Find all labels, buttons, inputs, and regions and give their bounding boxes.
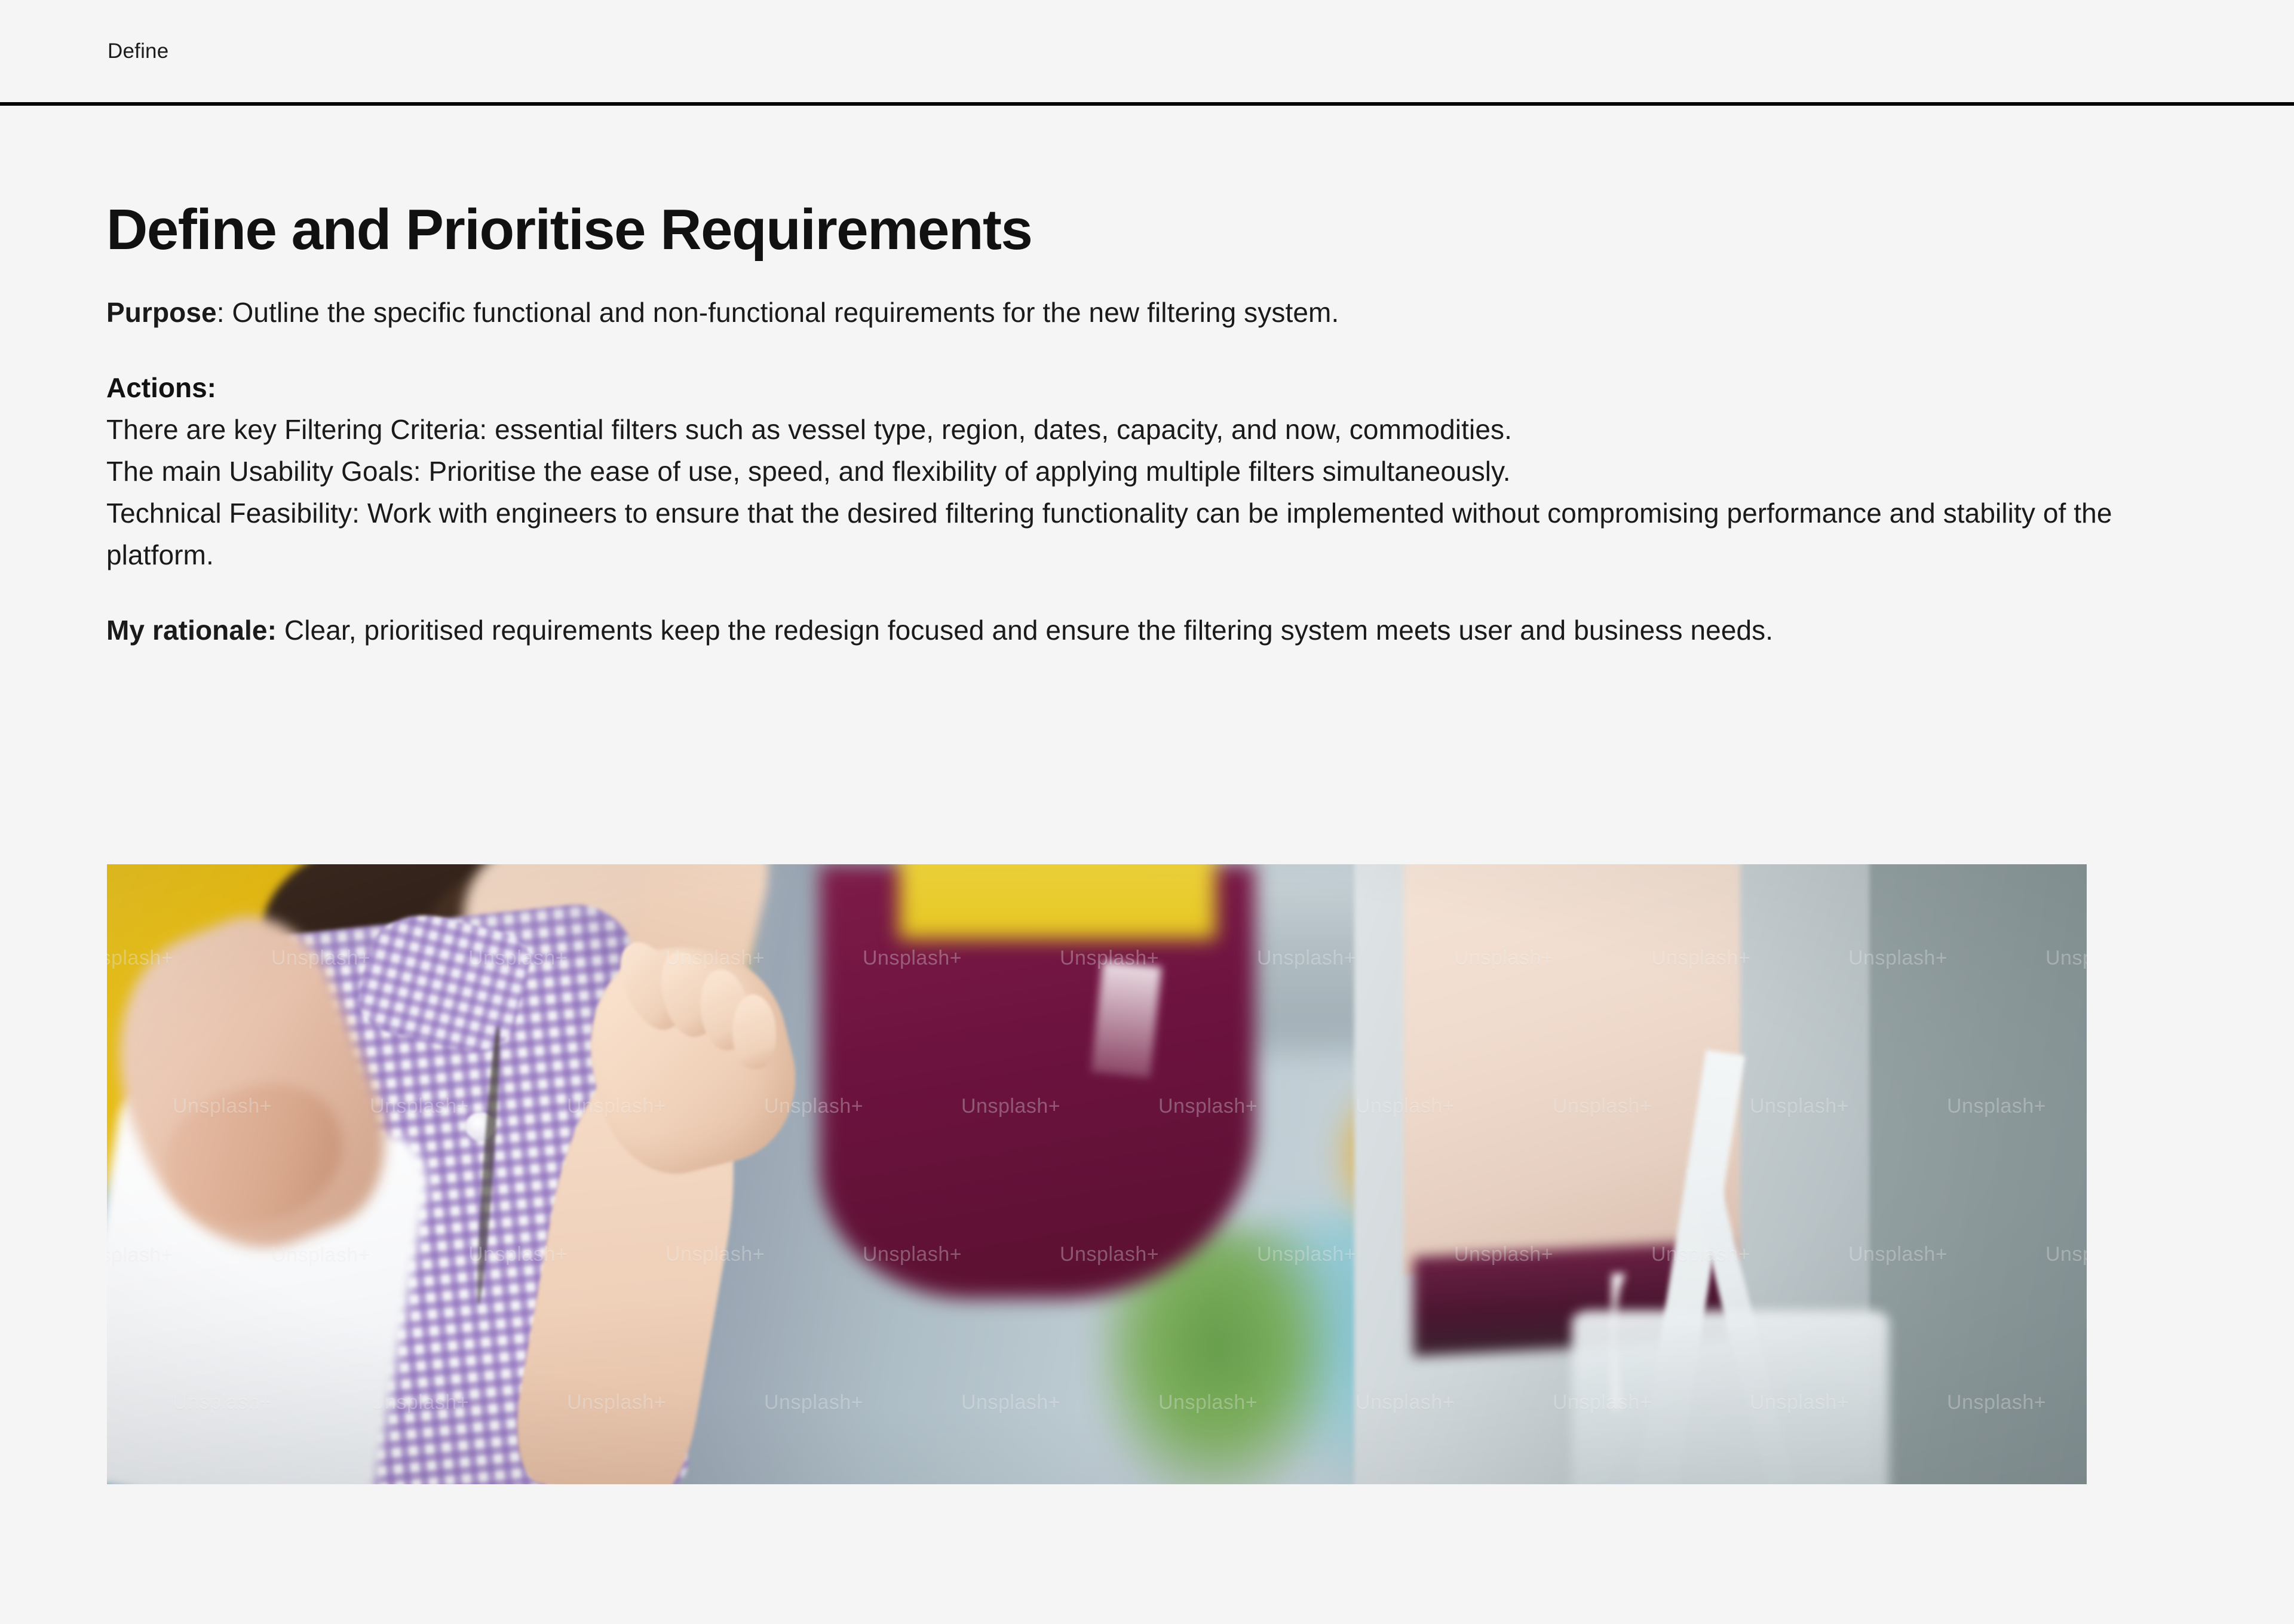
header-divider <box>0 102 2294 106</box>
purpose-label: Purpose <box>106 297 217 328</box>
purpose-separator: : <box>217 297 232 328</box>
actions-item-1: There are key Filtering Criteria: essent… <box>106 409 2185 450</box>
purpose-paragraph: Purpose: Outline the specific functional… <box>106 291 2185 333</box>
photo-canvas <box>107 864 2087 1484</box>
actions-item-2: The main Usability Goals: Prioritise the… <box>106 450 2185 492</box>
slide-page: Define Define and Prioritise Requirement… <box>0 0 2294 1624</box>
actions-block: Actions: There are key Filtering Criteri… <box>106 367 2185 576</box>
content-area: Define and Prioritise Requirements Purpo… <box>106 197 2185 651</box>
breadcrumb[interactable]: Define <box>108 38 168 65</box>
photo-pens <box>1612 1273 1790 1410</box>
photo-maroon-yellow-backdrop <box>899 864 1216 939</box>
purpose-text: Outline the specific functional and non-… <box>232 297 1339 328</box>
top-bar: Define <box>0 0 2294 103</box>
rationale-paragraph: My rationale: Clear, prioritised require… <box>106 609 2185 651</box>
illustration-photo: Unsplash+Unsplash+Unsplash+Unsplash+Unsp… <box>107 864 2087 1484</box>
actions-heading: Actions: <box>106 367 2185 409</box>
photo-maroon-collar <box>1091 960 1162 1077</box>
rationale-text: Clear, prioritised requirements keep the… <box>277 615 1773 646</box>
page-title: Define and Prioritise Requirements <box>106 197 2185 263</box>
rationale-label: My rationale: <box>106 615 277 646</box>
actions-item-3: Technical Feasibility: Work with enginee… <box>106 492 2185 576</box>
